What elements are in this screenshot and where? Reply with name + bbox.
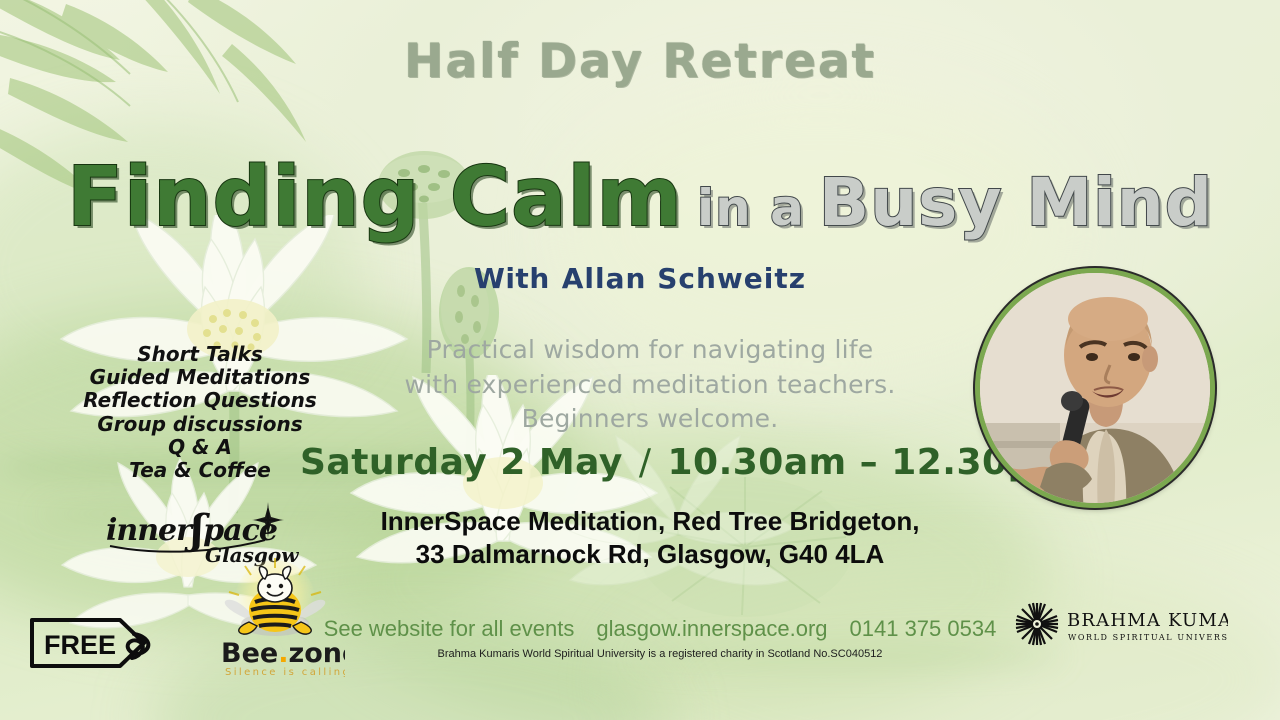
free-price-badge: FREE (28, 612, 156, 674)
list-item: Group discussions (60, 413, 340, 436)
brahma-kumaris-subtitle: WORLD SPIRITUAL UNIVERSITY (UK) (1068, 633, 1228, 642)
page-kicker: Half Day Retreat (0, 34, 1280, 89)
speaker-portrait (980, 273, 1215, 508)
innerspace-word-inner: inner (106, 513, 194, 548)
list-item: Reflection Questions (60, 389, 340, 412)
speaker-photo (975, 268, 1215, 508)
description-block: Practical wisdom for navigating life wit… (330, 333, 970, 437)
datetime-separator: / (639, 442, 652, 483)
list-item: Short Talks (60, 343, 340, 366)
poster-canvas: Half Day Retreat Finding Calmin aBusy Mi… (0, 0, 1280, 720)
activities-list: Short Talks Guided Meditations Reflectio… (60, 343, 340, 482)
charity-disclaimer: Brahma Kumaris World Spiritual Universit… (300, 648, 1020, 660)
beezone-word-bee: Bee (221, 638, 278, 669)
sunburst-icon (1016, 603, 1058, 645)
brahma-kumaris-logo: BRAHMA KUMARIS WORLD SPIRITUAL UNIVERSIT… (1013, 600, 1228, 648)
venue-address: InnerSpace Meditation, Red Tree Bridgeto… (300, 505, 1000, 572)
description-line-3: Beginners welcome. (330, 402, 970, 437)
list-item: Tea & Coffee (60, 459, 340, 482)
headline-part-busy-mind: Busy Mind (819, 164, 1213, 241)
headline-part-finding-calm: Finding Calm (67, 150, 683, 245)
event-date: Saturday 2 May (300, 442, 623, 483)
speaker-name: Allan Schweitz (562, 262, 806, 295)
free-label: FREE (44, 630, 116, 660)
footer-contact: See website for all events glasgow.inner… (310, 616, 1010, 642)
brahma-kumaris-title: BRAHMA KUMARIS (1067, 610, 1228, 631)
footer-cta: See website for all events (324, 616, 575, 642)
description-line-1: Practical wisdom for navigating life (330, 333, 970, 368)
footer-phone[interactable]: 0141 375 0534 (850, 616, 997, 642)
beezone-tagline: Silence is calling (225, 667, 345, 678)
event-datetime: Saturday 2 May/10.30am – 12.30pm (300, 442, 1000, 483)
footer-website-link[interactable]: glasgow.innerspace.org (596, 616, 827, 642)
venue-line-1: InnerSpace Meditation, Red Tree Bridgeto… (300, 505, 1000, 538)
list-item: Guided Meditations (60, 366, 340, 389)
with-label: With (474, 262, 550, 295)
page-title: Finding Calmin aBusy Mind (0, 150, 1280, 245)
description-line-2: with experienced meditation teachers. (330, 368, 970, 403)
list-item: Q & A (60, 436, 340, 459)
venue-line-2: 33 Dalmarnock Rd, Glasgow, G40 4LA (300, 538, 1000, 571)
headline-part-in-a: in a (697, 179, 805, 237)
